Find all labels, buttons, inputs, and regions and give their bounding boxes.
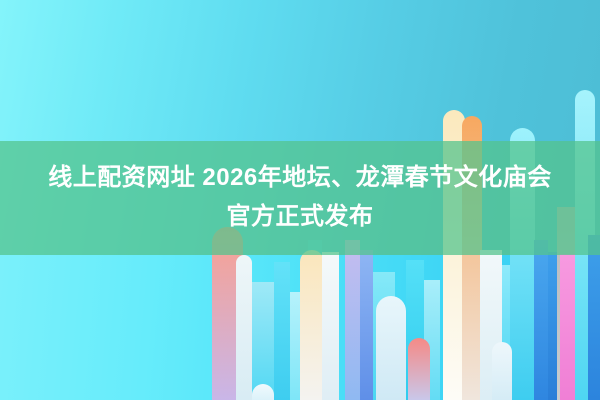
bar-cream-round bbox=[300, 250, 324, 400]
headline-block: 线上配资网址 2026年地坛、龙潭春节文化庙会 官方正式发布 bbox=[0, 141, 600, 255]
bar-cyan-light-a bbox=[252, 282, 274, 400]
bar-blue-deep-a bbox=[360, 250, 373, 400]
bar-blue-strong-a bbox=[534, 240, 548, 400]
headline-line-2: 官方正式发布 bbox=[227, 200, 374, 235]
bar-salmon-small bbox=[408, 338, 430, 400]
bar-blue-edge bbox=[588, 235, 600, 400]
bar-lavender-a bbox=[345, 240, 360, 400]
bar-white-tall-b bbox=[322, 252, 339, 400]
bar-white-slim-a bbox=[236, 255, 252, 400]
bar-white-round-b bbox=[376, 296, 406, 400]
bar-white-bubble bbox=[252, 384, 274, 400]
banner-image: 线上配资网址 2026年地坛、龙潭春节文化庙会 官方正式发布 bbox=[0, 0, 600, 400]
headline-line-1: 线上配资网址 2026年地坛、龙潭春节文化庙会 bbox=[48, 161, 552, 196]
bar-white-small bbox=[492, 342, 512, 400]
bar-cyan-mid-a bbox=[274, 262, 290, 400]
